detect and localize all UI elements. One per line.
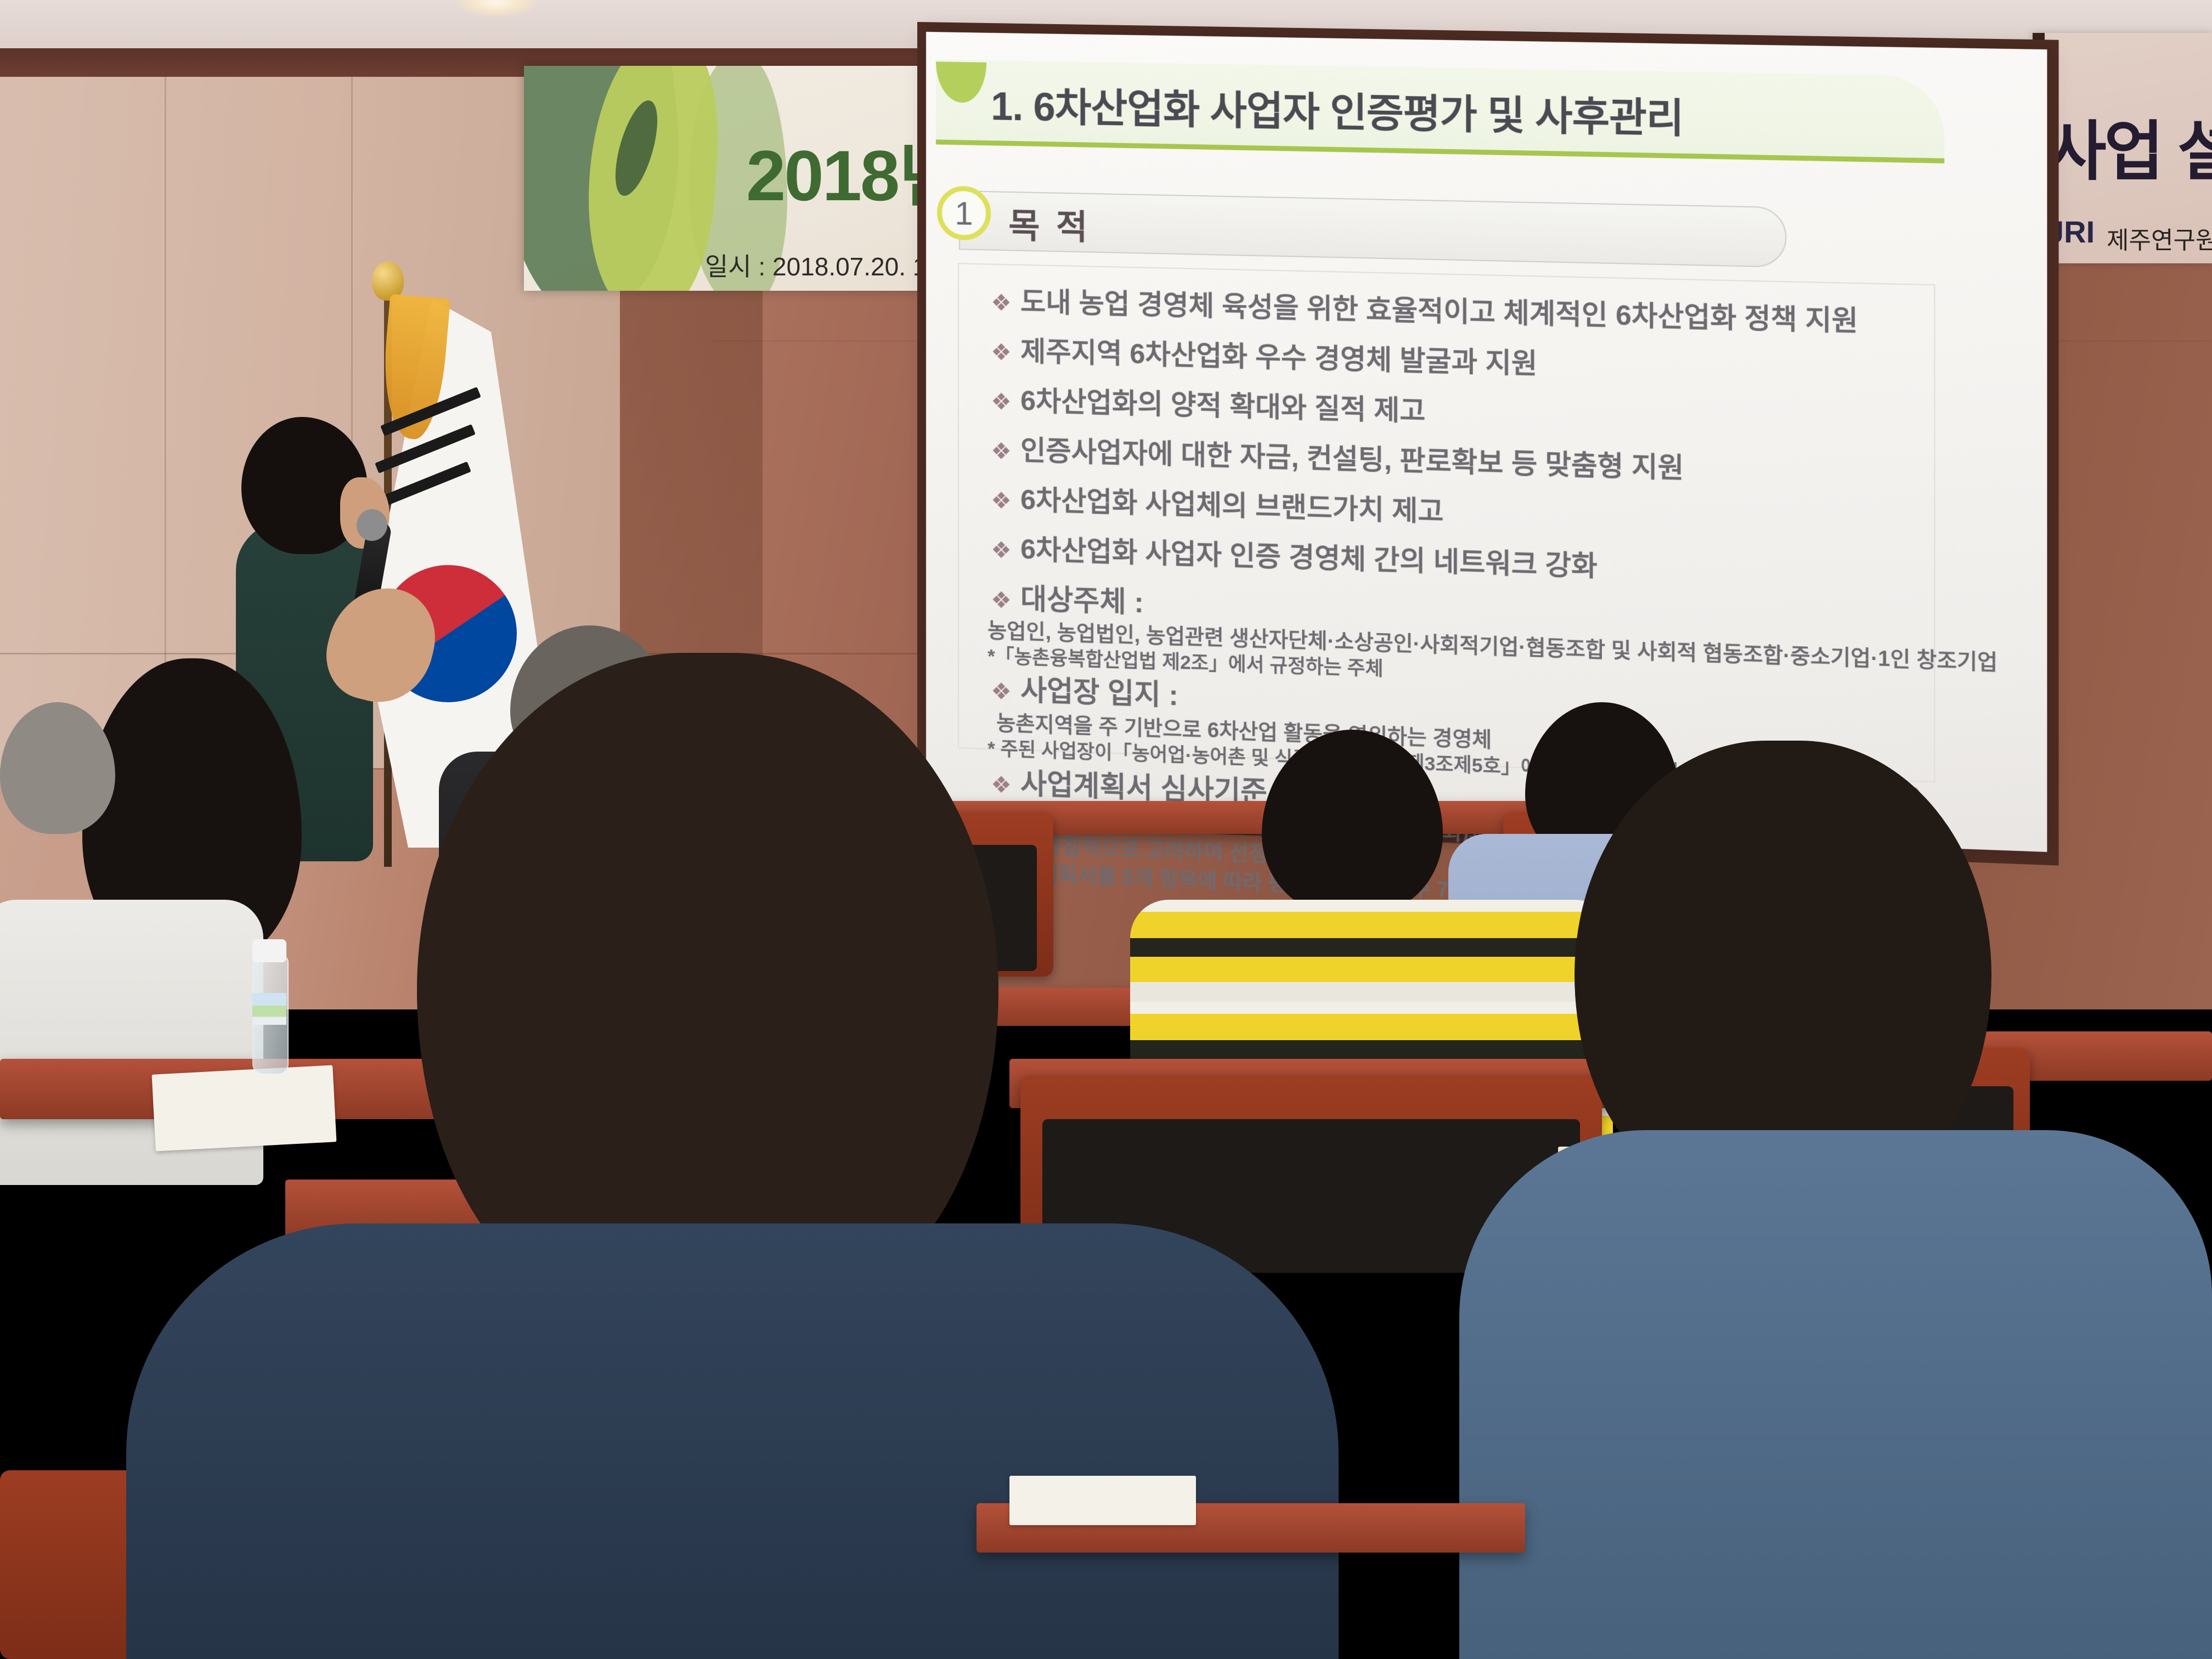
paper-sheet — [1009, 1476, 1196, 1525]
slide-header: 1. 6차산업화 사업자 인증평가 및 사후관리 — [936, 44, 1991, 174]
banner-right-title: 사업 설 — [2047, 99, 2212, 193]
bullet-marker-icon: ❖ — [991, 771, 1012, 798]
bullet-marker-icon: ❖ — [991, 678, 1012, 705]
banner-date-text: 일시 : 2018.07.20. 10:0 — [705, 247, 935, 283]
group-heading-text: 대상주체 : — [1020, 583, 1144, 619]
bottle-cap — [252, 939, 286, 962]
banner-year-text: 2018년 — [746, 118, 935, 221]
paper-sheet — [152, 1065, 337, 1151]
seminar-room-photo: 2018년 일시 : 2018.07.20. 10:0 사업 설 JRI 제주연… — [0, 0, 2212, 1659]
group-heading-text: 사업장 입지 : — [1020, 675, 1178, 712]
section-number-badge: 1 — [937, 185, 991, 240]
event-banner-right: 사업 설 JRI 제주연구원 제주 — [2033, 33, 2212, 263]
section-label: 목 적 — [1008, 198, 1091, 249]
projection-screen: 1. 6차산업화 사업자 인증평가 및 사후관리 1 목 적 ❖도내 농업 경영… — [926, 32, 2047, 852]
bullet-marker-icon: ❖ — [991, 487, 1012, 514]
presentation-slide: 1. 6차산업화 사업자 인증평가 및 사후관리 1 목 적 ❖도내 농업 경영… — [926, 32, 2047, 852]
bullet-marker-icon: ❖ — [991, 536, 1012, 563]
bullet-marker-icon: ❖ — [991, 586, 1012, 614]
organization-name: 제주연구원 제주 — [2107, 221, 2212, 256]
foreground-audience-head-right — [1575, 741, 1991, 1190]
bullet-marker-icon: ❖ — [991, 289, 1012, 317]
event-banner-left: 2018년 일시 : 2018.07.20. 10:0 — [524, 66, 935, 291]
bullet-marker-icon: ❖ — [991, 388, 1012, 415]
bullet-marker-icon: ❖ — [991, 338, 1012, 366]
bottle-label — [252, 993, 286, 1025]
foreground-audience-head — [417, 653, 998, 1300]
bullet-marker-icon: ❖ — [991, 437, 1012, 465]
foreground-audience-torso-right — [1459, 1130, 2212, 1659]
foreground-audience-torso — [126, 1223, 1339, 1659]
